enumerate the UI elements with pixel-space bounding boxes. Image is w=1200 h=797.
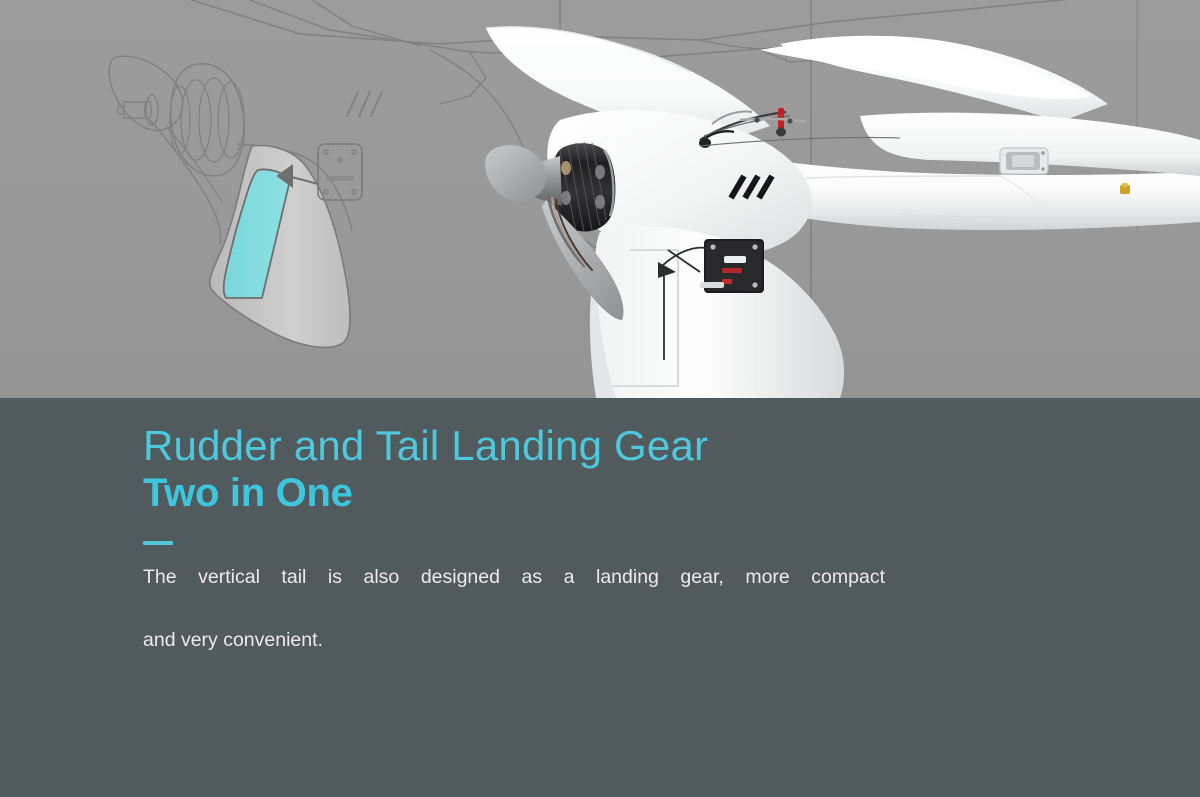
caption-content: Rudder and Tail Landing Gear Two in One … <box>143 424 1043 657</box>
caption-band: Rudder and Tail Landing Gear Two in One … <box>0 398 1200 797</box>
hero-image-band <box>0 0 1200 398</box>
headline-primary: Rudder and Tail Landing Gear <box>143 424 1043 469</box>
drone-photograph <box>485 27 1200 398</box>
propeller-blade-upper <box>485 145 546 201</box>
accent-divider <box>143 541 173 545</box>
headline-secondary: Two in One <box>143 471 1043 516</box>
body-text-line-2: and very convenient. <box>143 625 885 657</box>
latch <box>1000 148 1048 174</box>
body-text-line-1: The vertical tail is also designed as a … <box>143 562 885 625</box>
hero-artwork <box>0 0 1200 398</box>
promo-slide: Rudder and Tail Landing Gear Two in One … <box>0 0 1200 797</box>
schematic-slash-marking <box>347 92 382 116</box>
control-board <box>700 239 764 293</box>
body-text: The vertical tail is also designed as a … <box>143 562 885 657</box>
